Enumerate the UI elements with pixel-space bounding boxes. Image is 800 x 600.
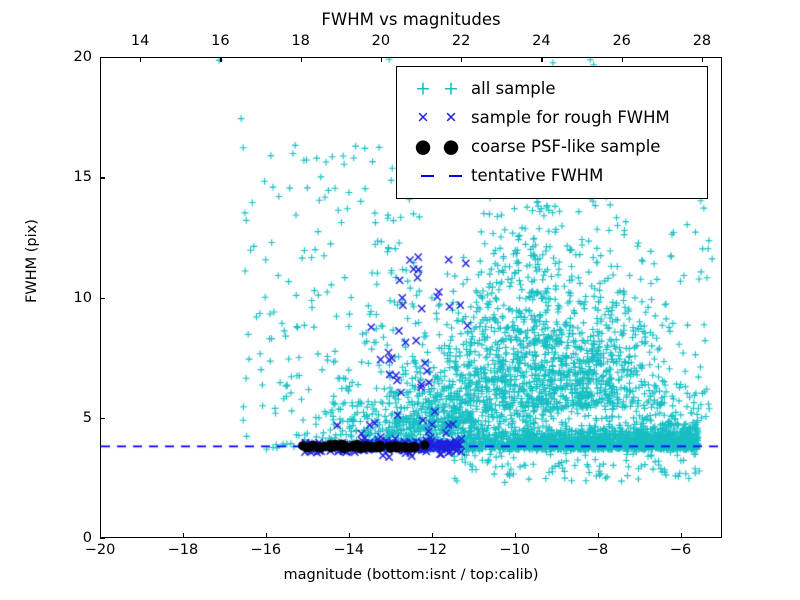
top-tickmark [622, 57, 623, 62]
bottom-tick-label: −16 [251, 542, 282, 558]
top-tickmark [301, 57, 302, 62]
legend-item[interactable]: ++all sample [407, 74, 697, 103]
figure-canvas: FWHM vs magnitudes magnitude (bottom:isn… [0, 0, 800, 600]
top-tickmark [461, 57, 462, 62]
chart-title: FWHM vs magnitudes [100, 10, 722, 29]
left-tick-label: 20 [52, 49, 92, 65]
top-tick-label: 20 [372, 33, 390, 49]
bottom-tickmark [515, 533, 516, 538]
left-tick-label: 5 [52, 410, 92, 426]
bottom-tick-label: −6 [670, 542, 691, 558]
legend-item[interactable]: ✕✕sample for rough FWHM [407, 103, 697, 132]
top-tickmark [702, 57, 703, 62]
legend-item[interactable]: tentative FWHM [407, 161, 697, 190]
bottom-tickmark [432, 533, 433, 538]
x-axis-label: magnitude (bottom:isnt / top:calib) [100, 567, 722, 583]
top-tick-label: 16 [211, 33, 229, 49]
chart-legend[interactable]: ++all sample✕✕sample for rough FWHM●●coa… [396, 66, 708, 199]
left-tick-label: 10 [52, 290, 92, 306]
legend-marker-dot-icon: ●● [407, 137, 471, 157]
top-tickmark [140, 57, 141, 62]
top-tickmark [381, 57, 382, 62]
bottom-tickmark [598, 533, 599, 538]
top-tick-label: 14 [131, 33, 149, 49]
top-tick-label: 26 [612, 33, 630, 49]
left-tickmark [100, 57, 105, 58]
left-tick-label: 0 [52, 530, 92, 546]
left-tickmark [100, 418, 105, 419]
bottom-tick-label: −12 [416, 542, 447, 558]
top-tick-label: 22 [452, 33, 470, 49]
bottom-tickmark [681, 533, 682, 538]
legend-marker-crdotss-icon: ✕✕ [407, 108, 471, 128]
y-axis-label: FWHM (pix) [24, 191, 40, 331]
top-tick-label: 24 [532, 33, 550, 49]
left-tickmark [100, 298, 105, 299]
top-tickmark [220, 57, 221, 62]
bottom-tick-label: −14 [333, 542, 364, 558]
bottom-tick-label: −18 [168, 542, 199, 558]
legend-marker-dashed-line-icon [407, 166, 471, 186]
bottom-tickmark [349, 533, 350, 538]
bottom-tick-label: −10 [499, 542, 530, 558]
legend-marker-plus-icon: ++ [407, 79, 471, 99]
legend-label: all sample [471, 79, 556, 98]
left-tickmark [100, 177, 105, 178]
legend-label: tentative FWHM [471, 166, 603, 185]
top-tick-label: 18 [291, 33, 309, 49]
legend-label: sample for rough FWHM [471, 108, 670, 127]
bottom-tickmark [266, 533, 267, 538]
left-tickmark [100, 538, 105, 539]
legend-item[interactable]: ●●coarse PSF-like sample [407, 132, 697, 161]
bottom-tick-label: −8 [587, 542, 608, 558]
legend-label: coarse PSF-like sample [471, 137, 660, 156]
bottom-tickmark [183, 533, 184, 538]
top-tick-label: 28 [693, 33, 711, 49]
left-tick-label: 15 [52, 169, 92, 185]
top-tickmark [541, 57, 542, 62]
